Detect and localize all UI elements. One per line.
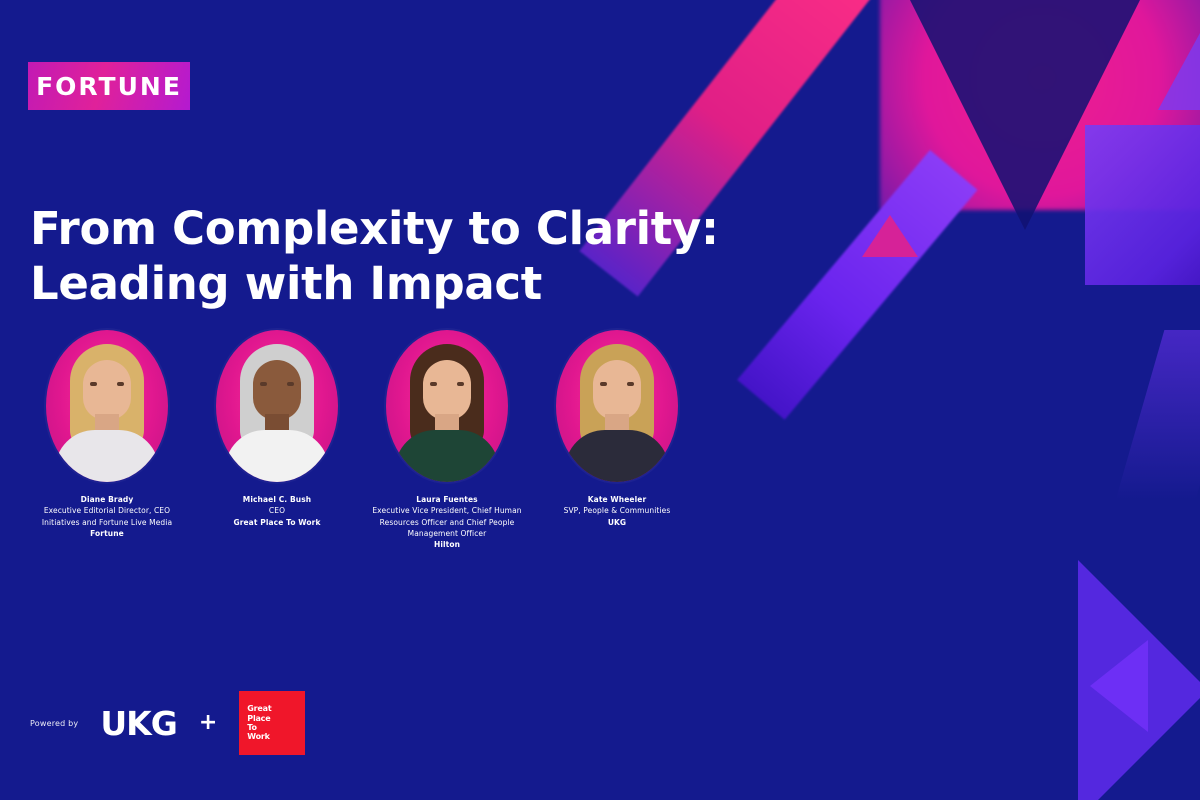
- speaker-list: Diane Brady Executive Editorial Director…: [22, 330, 702, 550]
- page-title: From Complexity to Clarity: Leading with…: [30, 202, 790, 312]
- speaker-role-2: CEO: [197, 505, 357, 516]
- speaker-org-1: Fortune: [27, 528, 187, 539]
- speaker-role-1: Executive Editorial Director, CEO Initia…: [27, 505, 187, 528]
- speaker-name-4: Kate Wheeler: [537, 494, 697, 505]
- gptw-line-1: Great: [247, 704, 297, 713]
- sponsor-footer: Powered by UKG + Great Place To Work: [30, 691, 305, 755]
- speaker-name-3: Laura Fuentes: [367, 494, 527, 505]
- speaker-caption-3: Laura Fuentes Executive Vice President, …: [367, 494, 527, 550]
- speaker-role-3: Executive Vice President, Chief Human Re…: [367, 505, 527, 539]
- powered-by-label: Powered by: [30, 719, 78, 728]
- speaker-name-2: Michael C. Bush: [197, 494, 357, 505]
- gptw-line-2: Place: [247, 714, 297, 723]
- fortune-logo: FORTUNE: [28, 62, 190, 110]
- speaker-avatar-4: [556, 330, 678, 482]
- page-title-line-2: Leading with Impact: [30, 257, 790, 312]
- speaker-avatar-1: [46, 330, 168, 482]
- speaker-card-1: Diane Brady Executive Editorial Director…: [22, 330, 192, 539]
- speaker-org-3: Hilton: [367, 539, 527, 550]
- speaker-card-4: Kate Wheeler SVP, People & Communities U…: [532, 330, 702, 528]
- fortune-webinar-promo-card: FORTUNE From Complexity to Clarity: Lead…: [0, 0, 1200, 800]
- fortune-logo-text: FORTUNE: [36, 74, 182, 99]
- speaker-name-1: Diane Brady: [27, 494, 187, 505]
- speaker-caption-2: Michael C. Bush CEO Great Place To Work: [197, 494, 357, 528]
- speaker-caption-4: Kate Wheeler SVP, People & Communities U…: [537, 494, 697, 528]
- plus-icon: +: [199, 712, 217, 734]
- speaker-avatar-2: [216, 330, 338, 482]
- gptw-line-4: Work: [247, 732, 297, 741]
- page-title-line-1: From Complexity to Clarity:: [30, 202, 790, 257]
- speaker-org-4: UKG: [537, 517, 697, 528]
- speaker-caption-1: Diane Brady Executive Editorial Director…: [27, 494, 187, 539]
- gptw-line-3: To: [247, 723, 297, 732]
- speaker-avatar-3: [386, 330, 508, 482]
- speaker-card-3: Laura Fuentes Executive Vice President, …: [362, 330, 532, 550]
- ukg-logo: UKG: [100, 707, 176, 740]
- speaker-org-2: Great Place To Work: [197, 517, 357, 528]
- speaker-card-2: Michael C. Bush CEO Great Place To Work: [192, 330, 362, 528]
- speaker-role-4: SVP, People & Communities: [537, 505, 697, 516]
- great-place-to-work-logo: Great Place To Work: [239, 691, 305, 755]
